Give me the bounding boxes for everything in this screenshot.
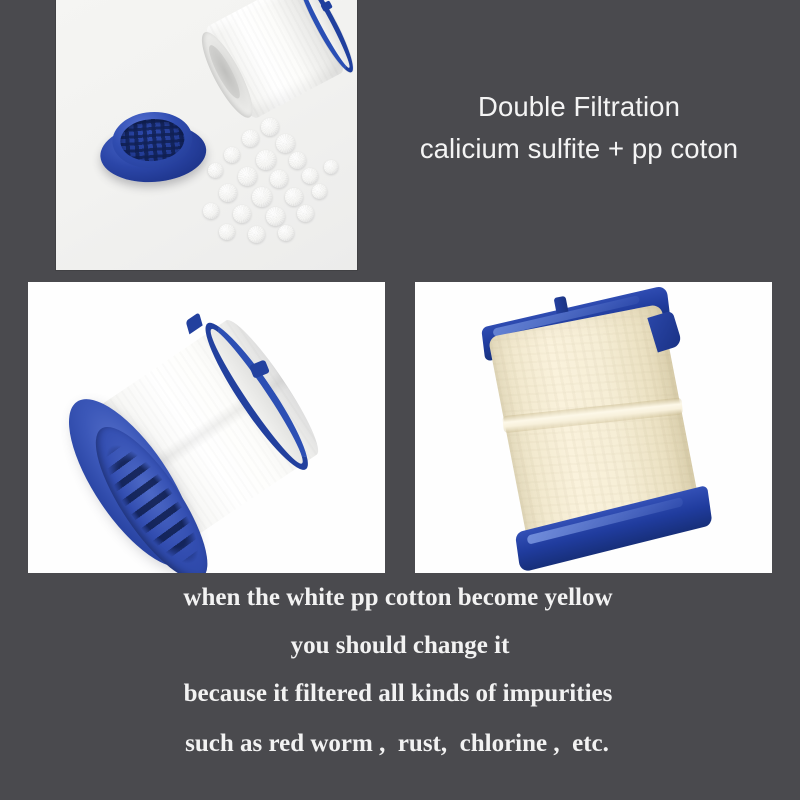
headline-line-2: calicium sulfite + pp coton [378, 128, 780, 170]
blue-mesh-cap [97, 106, 208, 191]
blue-rim-tab-upper [186, 312, 203, 334]
caption-line-3: because it filtered all kinds of impurit… [0, 680, 800, 708]
caption-block: when the white pp cotton become yellow y… [0, 584, 800, 758]
product-photo-used-yellow-filter [415, 282, 772, 573]
mesh-grid-icon [119, 117, 186, 163]
cap-recess [119, 117, 186, 163]
caption-line-4: such as red worm , rust, chlorine , etc. [0, 730, 800, 758]
caption-line-2: you should change it [0, 632, 800, 660]
headline-block: Double Filtration calicium sulfite + pp … [378, 86, 780, 170]
caption-line-1: when the white pp cotton become yellow [0, 584, 800, 612]
outlet-nipple [554, 296, 569, 314]
white-filter-cartridge [28, 282, 385, 573]
headline-line-1: Double Filtration [378, 86, 780, 128]
yellowed-filter-cartridge [451, 282, 744, 573]
product-photo-filter-with-balls [56, 0, 357, 270]
product-photo-new-white-filter [28, 282, 385, 573]
